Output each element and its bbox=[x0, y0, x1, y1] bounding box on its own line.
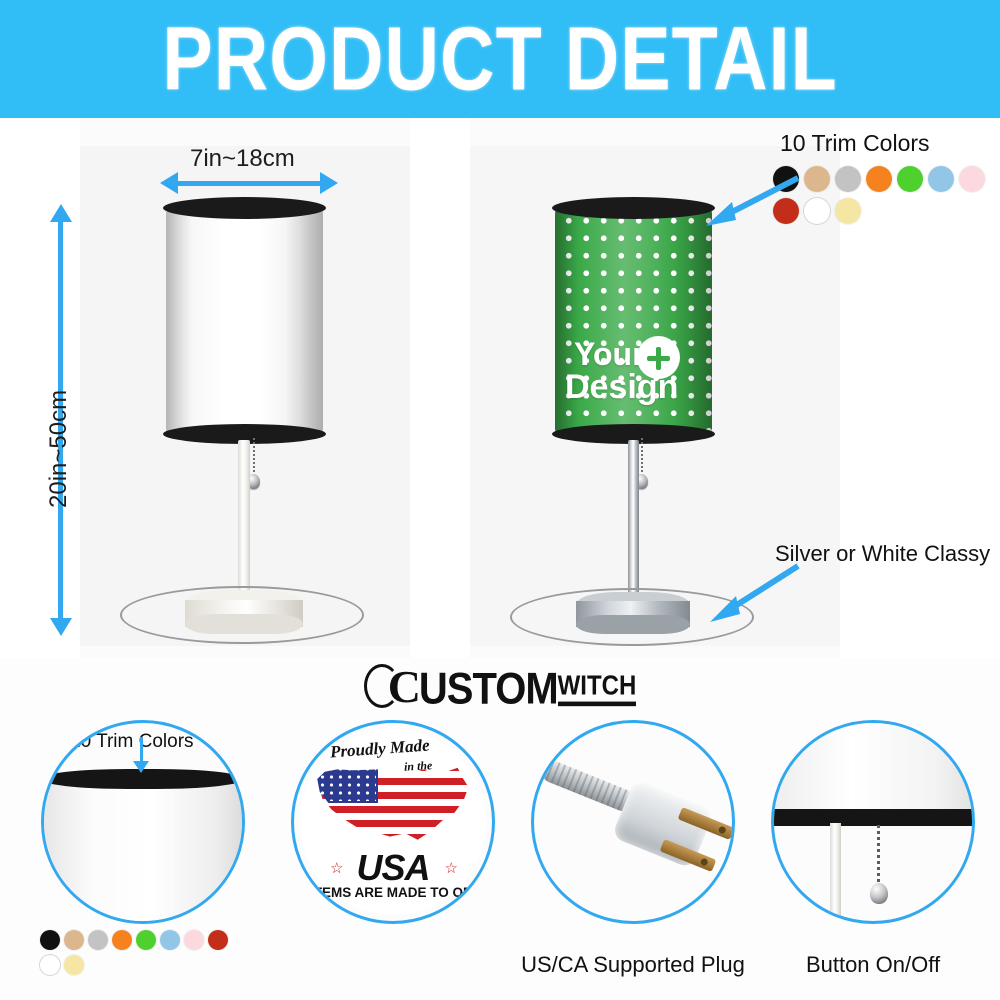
width-arrow-line bbox=[176, 181, 322, 186]
trim-swatch-pink[interactable] bbox=[184, 930, 204, 950]
brand-c-letter: C bbox=[388, 661, 419, 712]
trim-swatch-pink[interactable] bbox=[959, 166, 985, 192]
main-stage: 7in~18cm 20in~50cm bbox=[0, 118, 1000, 658]
page-title: PRODUCT DETAIL bbox=[162, 14, 837, 104]
switch-pull-chain[interactable] bbox=[877, 825, 880, 885]
trim-swatch-black[interactable] bbox=[40, 930, 60, 950]
trim-swatch-orange[interactable] bbox=[866, 166, 892, 192]
trim-swatch-gray[interactable] bbox=[835, 166, 861, 192]
feature-plug-caption: US/CA Supported Plug bbox=[508, 952, 758, 978]
green-lamp-pull-chain[interactable] bbox=[641, 438, 643, 478]
feature-switch-circle bbox=[771, 720, 975, 924]
width-dimension-label: 7in~18cm bbox=[190, 145, 295, 173]
white-lamp-pull-chain[interactable] bbox=[253, 438, 255, 478]
silver-base-bottom bbox=[576, 615, 690, 634]
feature-plug-circle bbox=[531, 720, 735, 924]
brand-logo: C USTOM WITCH bbox=[0, 660, 1000, 712]
feature-plug: US/CA Supported Plug bbox=[508, 712, 758, 1000]
trim-swatch-light-blue[interactable] bbox=[160, 930, 180, 950]
usa-main-text: USA bbox=[356, 847, 429, 889]
white-base-bottom bbox=[185, 614, 303, 634]
switch-pull-knob[interactable] bbox=[870, 883, 888, 904]
trim-swatch-yellow[interactable] bbox=[64, 955, 84, 975]
product-detail-infographic: PRODUCT DETAIL 7in~18cm 20in~50cm bbox=[0, 0, 1000, 1000]
trim-panel-arrow-line bbox=[140, 737, 143, 763]
usa-star-left-icon: ☆ bbox=[330, 859, 343, 877]
usa-badge: Proudly Made in the ☆ USA ☆ ALL ITEMS AR… bbox=[300, 729, 486, 915]
brand-name-primary: USTOM bbox=[419, 668, 558, 711]
feature-trim-colors-swatch-row[interactable] bbox=[40, 930, 255, 980]
trim-swatch-gray[interactable] bbox=[88, 930, 108, 950]
switch-panel-shade bbox=[771, 723, 975, 811]
trim-swatch-orange[interactable] bbox=[112, 930, 132, 950]
trim-swatch-light-blue[interactable] bbox=[928, 166, 954, 192]
backdrop-gap bbox=[410, 118, 470, 658]
trim-panel-shade bbox=[42, 779, 242, 924]
usa-flag-stars bbox=[318, 765, 376, 801]
trim-panel-arrow-head-icon bbox=[133, 761, 149, 773]
white-lamp-trim-top bbox=[163, 197, 326, 219]
usa-star-right-icon: ☆ bbox=[445, 859, 458, 877]
feature-made-in-usa: Proudly Made in the ☆ USA ☆ ALL ITEMS AR… bbox=[268, 712, 518, 1000]
feature-switch-caption: Button On/Off bbox=[748, 952, 998, 978]
trim-swatch-green[interactable] bbox=[136, 930, 156, 950]
feature-trim-colors-label: 10 Trim Colors bbox=[70, 731, 194, 753]
header-bar: PRODUCT DETAIL bbox=[0, 0, 1000, 118]
trim-swatch-tan[interactable] bbox=[64, 930, 84, 950]
design-text-line1: Your bbox=[574, 338, 645, 371]
trim-swatch-yellow[interactable] bbox=[835, 198, 861, 224]
backdrop-edge-left bbox=[0, 118, 80, 658]
white-lamp-shade bbox=[166, 206, 323, 436]
usa-subtext: ALL ITEMS ARE MADE TO ORDER! bbox=[291, 885, 495, 900]
green-lamp-pole bbox=[628, 440, 639, 600]
brand-name-secondary: WITCH bbox=[558, 673, 637, 706]
feature-made-in-usa-circle: Proudly Made in the ☆ USA ☆ ALL ITEMS AR… bbox=[291, 720, 495, 924]
trim-swatch-red[interactable] bbox=[208, 930, 228, 950]
switch-panel-trim-band bbox=[771, 809, 975, 826]
feature-switch: Button On/Off bbox=[748, 712, 998, 1000]
height-dimension-label: 20in~50cm bbox=[45, 390, 73, 508]
feature-panels: 10 Trim Colors Proudly Made in the ☆ USA… bbox=[0, 712, 1000, 1000]
feature-trim-colors-circle: 10 Trim Colors bbox=[41, 720, 245, 924]
trim-swatch-green[interactable] bbox=[897, 166, 923, 192]
add-design-plus-icon[interactable] bbox=[637, 336, 680, 379]
trim-swatch-white[interactable] bbox=[40, 955, 60, 975]
trim-colors-heading: 10 Trim Colors bbox=[780, 130, 930, 157]
brand-c-mark: C bbox=[364, 664, 419, 709]
trim-colors-arrow-icon bbox=[698, 170, 808, 230]
white-lamp-base bbox=[185, 590, 303, 634]
white-shade-surface bbox=[166, 206, 323, 436]
green-lamp-trim-top bbox=[552, 197, 715, 219]
base-finish-arrow-icon bbox=[700, 558, 810, 628]
switch-panel-pole bbox=[830, 823, 841, 924]
height-arrow-head-bottom bbox=[50, 618, 72, 636]
plug-cord-ribs bbox=[539, 758, 636, 814]
green-lamp-base bbox=[576, 592, 690, 634]
width-arrow-head-left bbox=[160, 172, 178, 194]
white-lamp-pole bbox=[238, 440, 250, 600]
height-arrow-head-top bbox=[50, 204, 72, 222]
feature-trim-colors: 10 Trim Colors bbox=[18, 712, 268, 1000]
width-arrow-head-right bbox=[320, 172, 338, 194]
